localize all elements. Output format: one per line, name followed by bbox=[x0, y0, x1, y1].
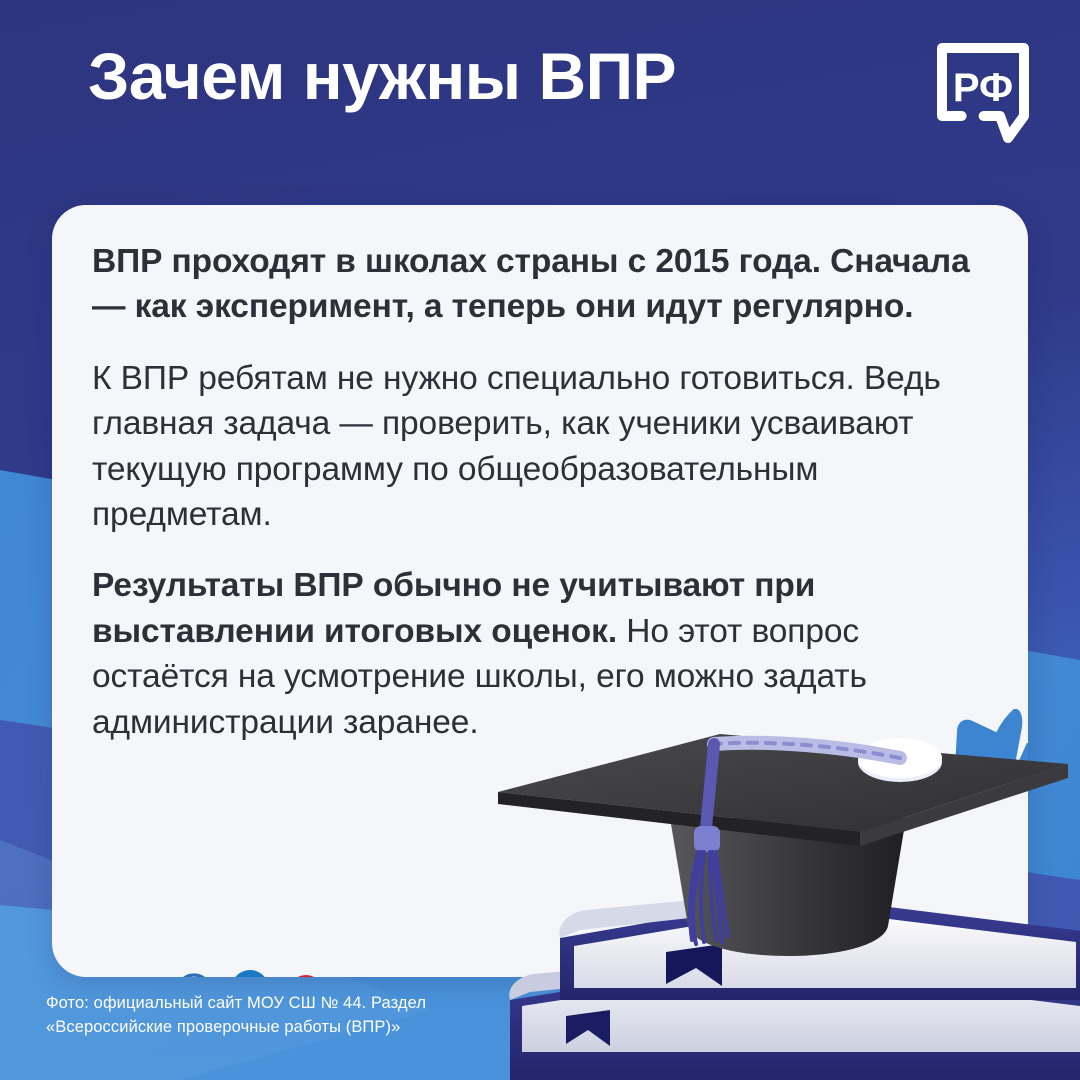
caption-line-2: «Всероссийские проверочные работы (ВПР)» bbox=[46, 1016, 566, 1040]
poster-root: Зачем нужны ВПР РФ ВПР проходят в школах… bbox=[0, 0, 1080, 1080]
card-body: ВПР проходят в школах страны с 2015 года… bbox=[92, 239, 988, 771]
caption-line-1: Фото: официальный сайт МОУ СШ № 44. Разд… bbox=[46, 994, 426, 1012]
page-title: Зачем нужны ВПР bbox=[88, 42, 676, 111]
rf-logo-label: РФ bbox=[953, 66, 1013, 110]
rf-speech-bubble-logo-icon: РФ bbox=[930, 38, 1036, 150]
vpr-logo-icon: ВПР bbox=[150, 962, 350, 977]
header: Зачем нужны ВПР РФ bbox=[0, 0, 1080, 205]
footer-caption: Фото: официальный сайт МОУ СШ № 44. Разд… bbox=[46, 992, 566, 1040]
paragraph-2: К ВПР ребятам не нужно специально готови… bbox=[92, 356, 988, 538]
paragraph-1: ВПР проходят в школах страны с 2015 года… bbox=[92, 239, 988, 330]
graduation-cap-3d-icon bbox=[498, 734, 1068, 846]
